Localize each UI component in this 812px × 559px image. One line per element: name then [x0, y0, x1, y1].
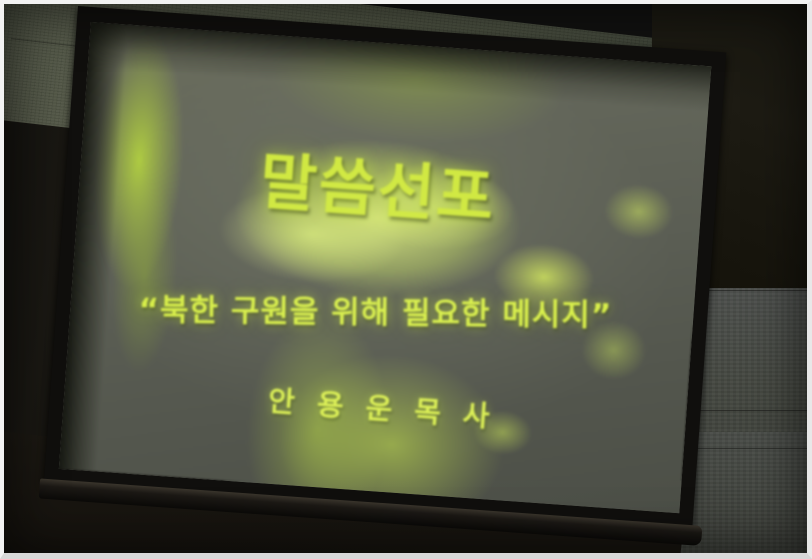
slide-speaker-name: 안 용 운 목 사	[267, 378, 497, 436]
room: 말씀선포 “북한 구원을 위해 필요한 메시지” 안 용 운 목 사	[0, 0, 812, 559]
slide-text-block: 말씀선포 “북한 구원을 위해 필요한 메시지” 안 용 운 목 사	[59, 22, 711, 513]
slide-title: 말씀선포	[257, 131, 499, 238]
projected-slide: 말씀선포 “북한 구원을 위해 필요한 메시지” 안 용 운 목 사	[59, 22, 711, 513]
projection-screen: 말씀선포 “북한 구원을 위해 필요한 메시지” 안 용 운 목 사	[42, 6, 737, 559]
photograph: 말씀선포 “북한 구원을 위해 필요한 메시지” 안 용 운 목 사	[0, 0, 812, 559]
screen-frame: 말씀선포 “북한 구원을 위해 필요한 메시지” 안 용 운 목 사	[44, 6, 727, 529]
slide-subtitle: “북한 구원을 위해 필요한 메시지”	[138, 284, 612, 335]
